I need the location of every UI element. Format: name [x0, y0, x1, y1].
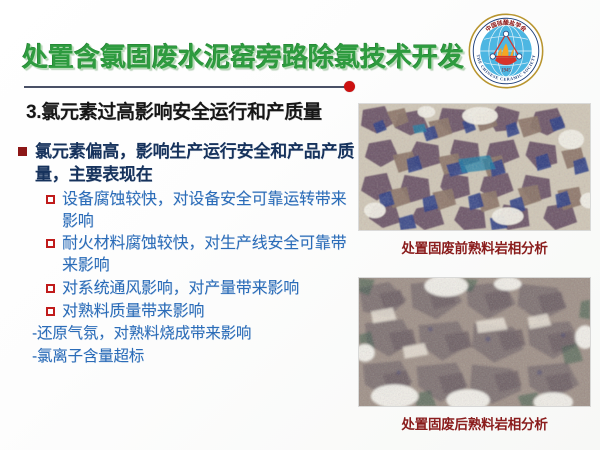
list-item-label: 对系统通风影响，对产量带来影响 — [62, 278, 299, 300]
list-item-label: 耐火材料腐蚀较快，对生产线安全可靠带来影响 — [62, 233, 358, 277]
square-bullet-icon — [18, 147, 27, 156]
chinese-ceramic-society-logo-icon: 1945 中国硅酸盐学会 THE CHINESE CERAMIC SOCIETY — [467, 12, 545, 90]
list-item-dash: -氯离子含量超标 — [32, 346, 358, 368]
content-list: 氯元素偏高，影响生产运行安全和产品产质量，主要表现在 设备腐蚀较快，对设备安全可… — [18, 140, 358, 369]
micrograph-before — [358, 103, 591, 231]
divider-dot-icon — [344, 81, 355, 92]
micrograph-after — [358, 277, 591, 407]
svg-text:1945: 1945 — [501, 68, 511, 73]
section-subtitle: 3.氯元素过高影响安全运行和产质量 — [26, 97, 322, 124]
list-item: 耐火材料腐蚀较快，对生产线安全可靠带来影响 — [46, 233, 358, 277]
figure-caption-before: 处置固废前熟料岩相分析 — [358, 237, 591, 257]
hollow-square-bullet-icon — [46, 284, 55, 293]
list-item-label: 氯元素偏高，影响生产运行安全和产品产质量，主要表现在 — [35, 140, 358, 187]
hollow-square-bullet-icon — [46, 307, 55, 316]
page-title: 处置含氯固废水泥窑旁路除氯技术开发 — [22, 44, 464, 70]
title-divider — [24, 86, 346, 88]
list-item: 设备腐蚀较快，对设备安全可靠运转带来影响 — [46, 189, 358, 233]
figure-caption-after: 处置固废后熟料岩相分析 — [358, 413, 591, 433]
list-item-label: 设备腐蚀较快，对设备安全可靠运转带来影响 — [62, 189, 358, 233]
list-item: 氯元素偏高，影响生产运行安全和产品产质量，主要表现在 — [18, 140, 358, 187]
hollow-square-bullet-icon — [46, 239, 55, 248]
slide-canvas: 处置含氯固废水泥窑旁路除氯技术开发 3.氯元素过高影响安全运行和产质量 — [0, 0, 600, 450]
list-item: 对熟料质量带来影响 — [46, 301, 358, 323]
list-item: 对系统通风影响，对产量带来影响 — [46, 278, 358, 300]
hollow-square-bullet-icon — [46, 195, 55, 204]
list-item-label: 对熟料质量带来影响 — [62, 301, 204, 323]
list-item-dash: -还原气氛，对熟料烧成带来影响 — [32, 323, 358, 345]
